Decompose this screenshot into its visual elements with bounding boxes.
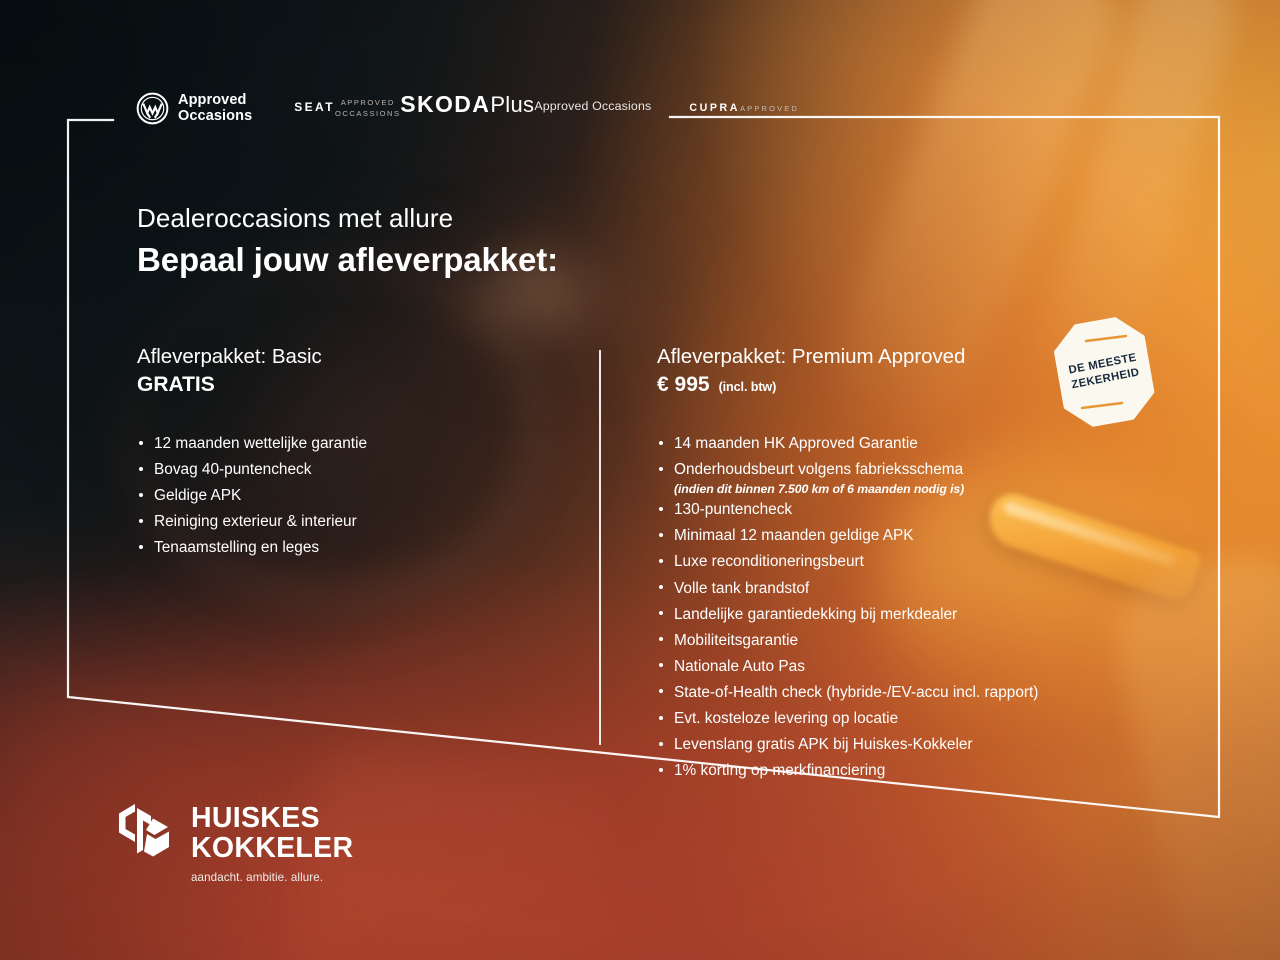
vw-logo-text: Approved Occasions (178, 93, 252, 124)
page-title: Bepaal jouw afleverpakket: (137, 241, 558, 279)
seat-wordmark: SEAT (294, 100, 335, 114)
status-badge: DE MEESTE ZEKERHEID (1048, 312, 1160, 430)
bullet-icon (659, 507, 663, 511)
list-item: Mobiliteitsgarantie (657, 628, 1177, 654)
vw-logo-icon (136, 92, 169, 125)
headline-block: Dealeroccasions met allure Bepaal jouw a… (137, 203, 558, 279)
brand-skoda: SKODAPlus Approved Occasions (400, 92, 651, 116)
bullet-icon (139, 493, 143, 497)
package-basic-title: Afleverpakket: Basic (137, 345, 567, 369)
seal-text: DE MEESTE ZEKERHEID (1038, 302, 1170, 439)
list-item: Luxe reconditioneringsbeurt (657, 549, 1177, 575)
seat-sub2: OCCASSIONS (335, 108, 401, 119)
dealer-name-line1: HUISKES (191, 804, 353, 834)
feature-text: 14 maanden HK Approved Garantie (674, 435, 918, 452)
feature-text: Bovag 40-puntencheck (154, 461, 311, 478)
bullet-icon (659, 441, 663, 445)
bullet-icon (139, 441, 143, 445)
bullet-icon (659, 637, 663, 641)
bullet-icon (659, 716, 663, 720)
list-item: Tenaamstelling en leges (137, 535, 567, 561)
feature-text: State-of-Health check (hybride-/EV-accu … (674, 684, 1038, 701)
bullet-icon (659, 467, 663, 471)
vw-line1: Approved (178, 93, 252, 109)
brand-cupra: CUPRA APPROVED (689, 92, 767, 123)
bullet-icon (659, 663, 663, 667)
list-item: Nationale Auto Pas (657, 654, 1177, 680)
bullet-icon (659, 559, 663, 563)
feature-text: 130-puntencheck (674, 501, 792, 518)
bullet-icon (659, 585, 663, 589)
list-item: Reiniging exterieur & interieur (137, 509, 567, 535)
dealer-name-line2: KOKKELER (191, 834, 353, 864)
package-basic: Afleverpakket: Basic GRATIS 12 maanden w… (137, 345, 567, 561)
feature-text: Landelijke garantiedekking bij merkdeale… (674, 606, 957, 623)
list-item: Minimaal 12 maanden geldige APK (657, 523, 1177, 549)
package-premium-feature-list: 14 maanden HK Approved Garantie Onderhou… (657, 431, 1177, 784)
skoda-plus: Plus (490, 92, 534, 117)
package-basic-price-value: GRATIS (137, 373, 215, 397)
feature-text: Reiniging exterieur & interieur (154, 513, 357, 530)
feature-text: Mobiliteitsgarantie (674, 632, 798, 649)
list-item: Bovag 40-puntencheck (137, 457, 567, 483)
dealer-logo: HUISKES KOKKELER aandacht. ambitie. allu… (113, 800, 353, 884)
feature-text: Tenaamstelling en leges (154, 539, 319, 556)
poster-canvas: Approved Occasions SEAT APPROVED OCCASSI… (0, 0, 1280, 960)
skoda-word: SKODA (400, 91, 490, 117)
cupra-wordmark: CUPRA (689, 102, 740, 114)
feature-note: (indien dit binnen 7.500 km of 6 maanden… (674, 482, 1177, 497)
brand-seat: SEAT APPROVED OCCASSIONS (294, 92, 366, 120)
brand-logo-bar: Approved Occasions SEAT APPROVED OCCASSI… (136, 92, 767, 154)
bullet-icon (659, 768, 663, 772)
list-item: Geldige APK (137, 483, 567, 509)
list-item: 14 maanden HK Approved Garantie (657, 431, 1177, 457)
list-item: 130-puntencheck (657, 497, 1177, 523)
bullet-icon (659, 533, 663, 537)
list-item: Levenslang gratis APK bij Huiskes-Kokkel… (657, 732, 1177, 758)
feature-text: Volle tank brandstof (674, 580, 809, 597)
huiskes-kokkeler-hexagon-monogram-icon (113, 800, 175, 866)
feature-text: Evt. kosteloze levering op locatie (674, 710, 898, 727)
package-basic-price: GRATIS (137, 373, 567, 397)
skoda-subline: Approved Occasions (534, 99, 651, 113)
bullet-icon (659, 742, 663, 746)
seat-sub1: APPROVED (335, 97, 401, 108)
feature-text: Levenslang gratis APK bij Huiskes-Kokkel… (674, 736, 973, 753)
bullet-icon (659, 689, 663, 693)
list-item: Volle tank brandstof (657, 576, 1177, 602)
list-item: 12 maanden wettelijke garantie (137, 431, 567, 457)
feature-text: Geldige APK (154, 487, 241, 504)
bullet-icon (659, 611, 663, 615)
feature-text: Nationale Auto Pas (674, 658, 805, 675)
package-premium-price-value: € 995 (657, 373, 710, 397)
list-item: Onderhoudsbeurt volgens fabrieksschema (… (657, 457, 1177, 497)
list-item: 1% korting op merkfinanciering (657, 758, 1177, 784)
feature-text: Luxe reconditioneringsbeurt (674, 553, 864, 570)
bullet-icon (139, 545, 143, 549)
cupra-subline: APPROVED (740, 104, 799, 113)
bullet-icon (139, 467, 143, 471)
brand-volkswagen: Approved Occasions (136, 92, 252, 125)
skoda-wordmark-icon: SKODAPlus (400, 93, 534, 116)
package-basic-feature-list: 12 maanden wettelijke garantie Bovag 40-… (137, 431, 567, 561)
dealer-logo-text: HUISKES KOKKELER aandacht. ambitie. allu… (191, 800, 353, 884)
dealer-tagline: aandacht. ambitie. allure. (191, 871, 353, 884)
seat-subline: APPROVED OCCASSIONS (335, 97, 401, 119)
package-premium-vat-note: (incl. btw) (719, 380, 777, 394)
headline-eyebrow: Dealeroccasions met allure (137, 203, 558, 234)
bullet-icon (139, 519, 143, 523)
list-item: State-of-Health check (hybride-/EV-accu … (657, 680, 1177, 706)
feature-text: Onderhoudsbeurt volgens fabrieksschema (674, 461, 963, 478)
feature-text: 12 maanden wettelijke garantie (154, 435, 367, 452)
vw-line2: Occasions (178, 109, 252, 125)
list-item: Evt. kosteloze levering op locatie (657, 706, 1177, 732)
feature-text: 1% korting op merkfinanciering (674, 762, 885, 779)
list-item: Landelijke garantiedekking bij merkdeale… (657, 602, 1177, 628)
feature-text: Minimaal 12 maanden geldige APK (674, 527, 914, 544)
